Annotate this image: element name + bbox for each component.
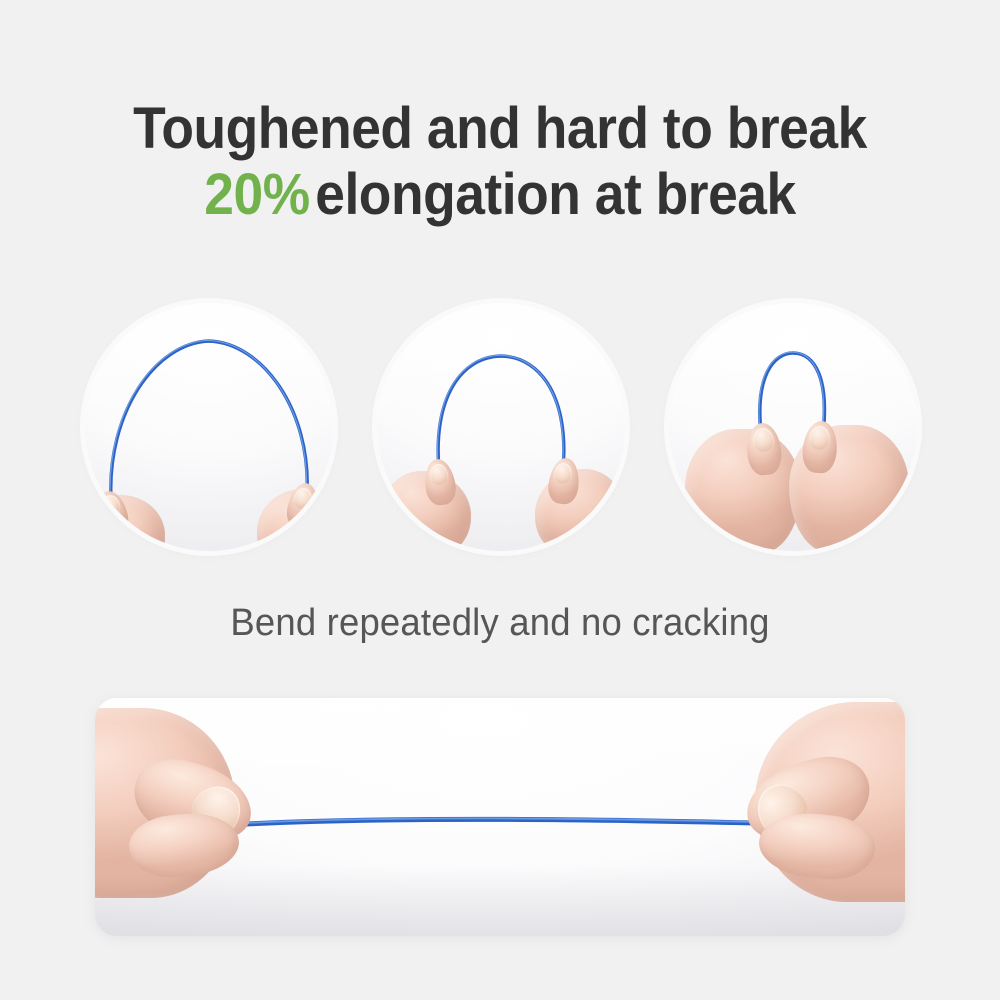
headline-block: Toughened and hard to break 20%elongatio… <box>0 96 1000 228</box>
headline-line-2-text: elongation at break <box>315 162 795 227</box>
left-hand <box>685 429 801 551</box>
bend-photo-row <box>85 303 917 553</box>
stretch-test-panel <box>95 698 905 936</box>
bend-caption: Bend repeatedly and no cracking <box>20 600 980 646</box>
bend-photo-wide-arc <box>85 303 333 551</box>
bend-photo-medium-u <box>377 303 625 551</box>
headline-line-2: 20%elongation at break <box>40 162 960 228</box>
headline-line-1: Toughened and hard to break <box>40 96 960 162</box>
elongation-percent: 20% <box>204 162 309 227</box>
bend-photo-tight-loop <box>669 303 917 551</box>
